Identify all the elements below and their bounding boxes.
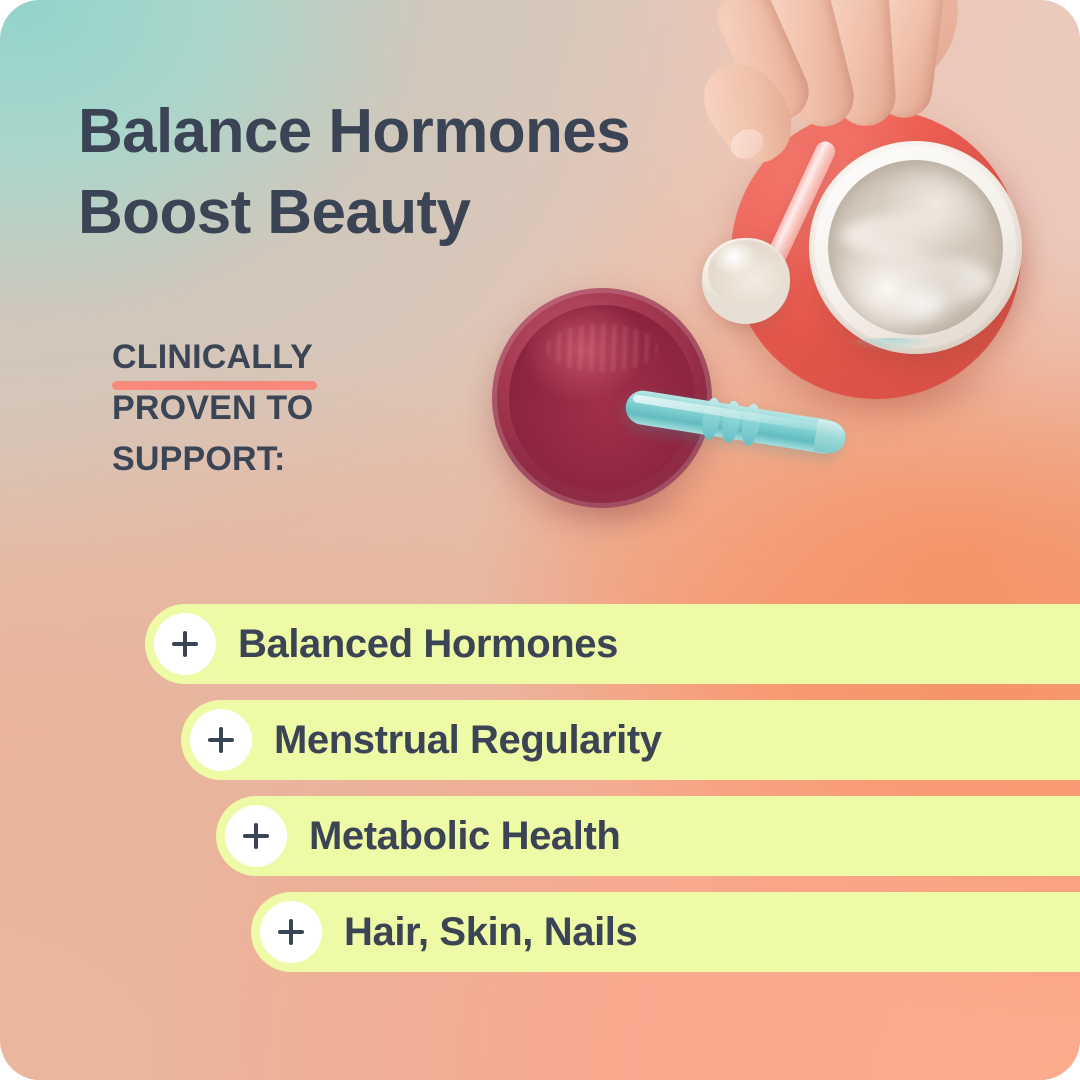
benefit-item-metabolic-health[interactable]: Metabolic Health xyxy=(216,796,1080,876)
benefit-item-hair-skin-nails[interactable]: Hair, Skin, Nails xyxy=(251,892,1080,972)
plus-icon xyxy=(225,805,287,867)
benefit-list: Balanced Hormones Menstrual Regularity M… xyxy=(0,0,1080,1080)
plus-icon xyxy=(190,709,252,771)
benefit-label: Balanced Hormones xyxy=(238,622,618,667)
plus-icon xyxy=(154,613,216,675)
plus-icon xyxy=(260,901,322,963)
promo-canvas: Balance Hormones Boost Beauty CLINICALLY… xyxy=(0,0,1080,1080)
benefit-label: Menstrual Regularity xyxy=(274,718,662,763)
benefit-label: Metabolic Health xyxy=(309,814,620,859)
benefit-item-balanced-hormones[interactable]: Balanced Hormones xyxy=(145,604,1080,684)
benefit-label: Hair, Skin, Nails xyxy=(344,910,637,955)
benefit-item-menstrual-regularity[interactable]: Menstrual Regularity xyxy=(181,700,1080,780)
